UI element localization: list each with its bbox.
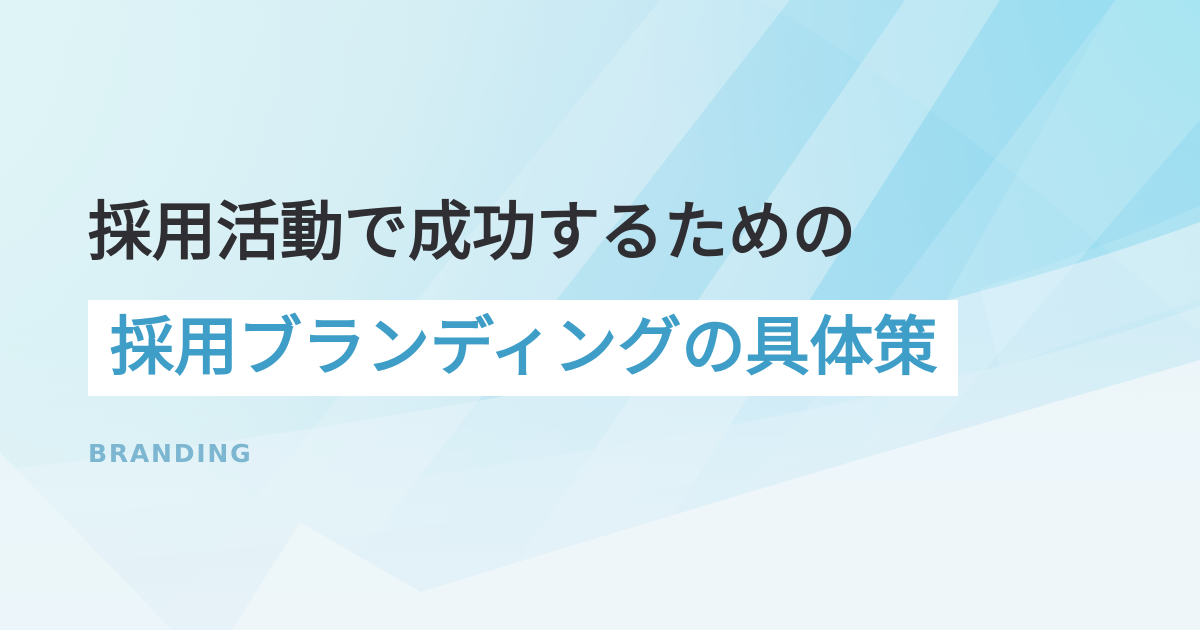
title-line-2: 採用ブランディングの具体策 <box>110 316 938 380</box>
headline-block: 採用活動で成功するための 採用ブランディングの具体策 <box>88 192 1108 396</box>
title-line-1: 採用活動で成功するための <box>88 192 1108 274</box>
ogp-title-card: 採用活動で成功するための 採用ブランディングの具体策 BRANDING <box>0 0 1200 630</box>
category-label: BRANDING <box>88 441 252 466</box>
title-line-2-highlight-box: 採用ブランディングの具体策 <box>88 300 958 396</box>
